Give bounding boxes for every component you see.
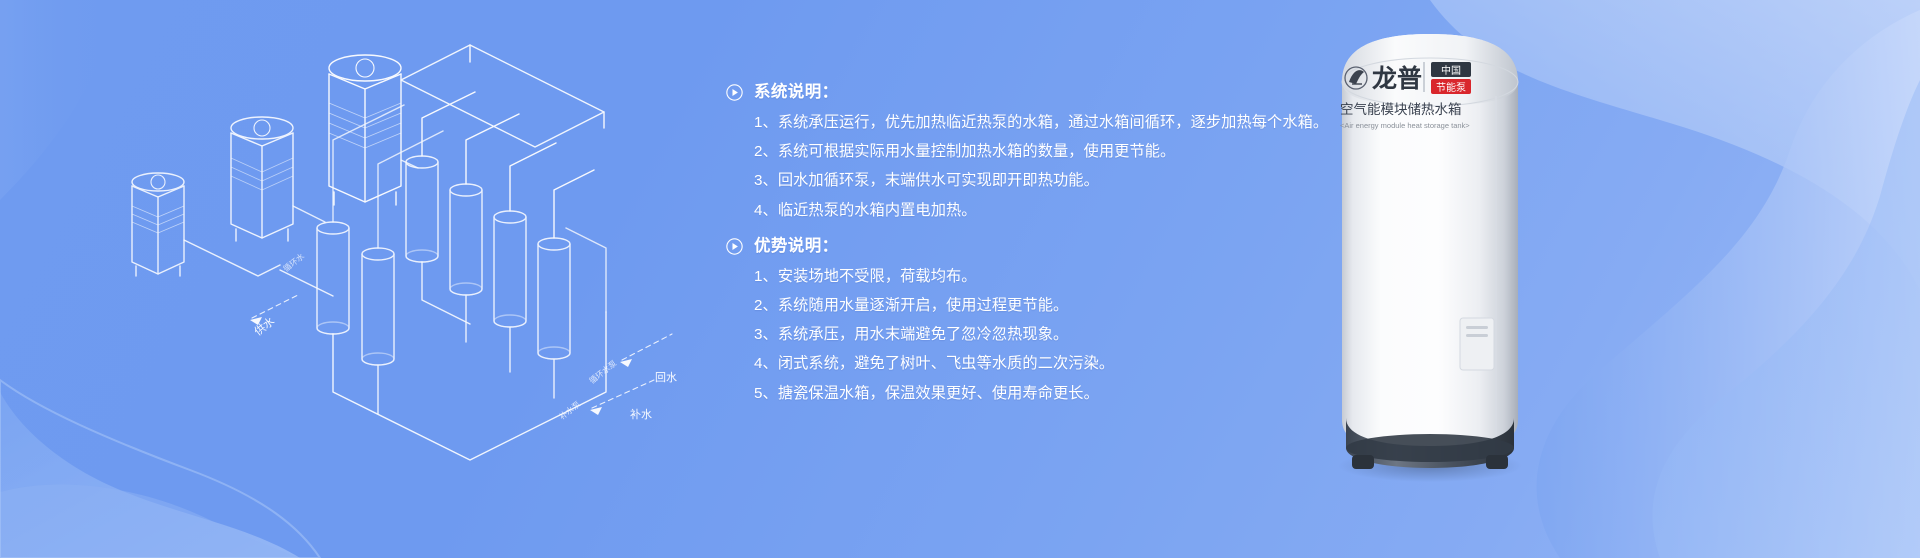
tank-top-cap [1342,34,1518,106]
list-item: 4、临近热泵的水箱内置电加热。 [726,203,1346,218]
tank-panel-vent [1466,326,1488,329]
system-schematic-diagram: 供水 回水 补水 循环水泵 补水泵 循环水 [0,0,740,558]
diagram-linework [132,45,672,460]
storage-tank [362,248,394,365]
heat-pump-unit-3 [329,55,401,205]
section-advantage-description: 优势说明： 1、安装场地不受限，荷载均布。 2、系统随用水量逐渐开启，使用过程更… [726,238,1346,401]
list-item: 3、回水加循环泵，末端供水可实现即开即热功能。 [726,173,1346,188]
tank-foot [1486,455,1508,469]
product-model-name: 空气能模块储热水箱 [1340,102,1462,117]
advantage-description-list: 1、安装场地不受限，荷载均布。 2、系统随用水量逐渐开启，使用过程更节能。 3、… [726,269,1346,401]
product-photo-water-tank: 龙普 中国 节能泵 空气能模块储热水箱 <Air energy module h… [1300,0,1920,558]
brand-name-cn: 龙普 [1372,64,1422,93]
storage-tank [538,238,570,359]
supply-manifold-piping [333,45,604,248]
tank-access-panel [1460,318,1494,370]
list-item: 1、安装场地不受限，荷载均布。 [726,269,1346,284]
storage-tank [494,211,526,327]
brand-mark-top-label: 中国 [1441,64,1461,77]
diagram-label: 循环水泵 [587,358,618,386]
section-system-description: 系统说明： 1、系统承压运行，优先加热临近热泵的水箱，通过水箱间循环，逐步加热每… [726,84,1346,218]
list-item: 5、搪瓷保温水箱，保温效果更好、使用寿命更长。 [726,386,1346,401]
section-title: 系统说明： [754,84,839,101]
callout-leader-lines [252,294,672,408]
storage-tank-group [317,156,570,365]
storage-tank [450,184,482,295]
heat-pump-unit-2 [231,117,293,241]
description-panel: 系统说明： 1、系统承压运行，优先加热临近热泵的水箱，通过水箱间循环，逐步加热每… [726,84,1346,401]
brand-mark-bottom-label: 节能泵 [1436,81,1466,94]
play-circle-icon [726,238,743,255]
tank-foot [1352,455,1374,469]
storage-tank [406,156,438,262]
list-item: 2、系统随用水量逐渐开启，使用过程更节能。 [726,298,1346,313]
storage-tank [317,222,349,334]
tank-panel-vent [1466,334,1488,337]
diagram-label: 回水 [655,371,677,384]
section-title: 优势说明： [754,238,839,255]
section-header: 系统说明： [726,84,1346,101]
diagram-label: 补水 [630,408,652,421]
diagram-label: 供水 [251,314,277,339]
list-item: 1、系统承压运行，优先加热临近热泵的水箱，通过水箱间循环，逐步加热每个水箱。 [726,115,1346,130]
system-description-list: 1、系统承压运行，优先加热临近热泵的水箱，通过水箱间循环，逐步加热每个水箱。 2… [726,115,1346,218]
heat-pump-unit-1 [132,173,184,276]
section-header: 优势说明： [726,238,1346,255]
diagram-label: 循环水 [281,251,306,274]
list-item: 2、系统可根据实际用水量控制加热水箱的数量，使用更节能。 [726,144,1346,159]
diagram-labels: 供水 回水 补水 循环水泵 补水泵 循环水 [251,251,677,422]
diagram-label: 补水泵 [557,399,582,422]
return-manifold-piping [184,160,606,460]
list-item: 4、闭式系统，避免了树叶、飞虫等水质的二次污染。 [726,356,1346,371]
list-item: 3、系统承压，用水末端避免了忽冷忽热现象。 [726,327,1346,342]
product-model-name-en: <Air energy module heat storage tank> [1340,121,1470,130]
play-circle-icon [726,84,743,101]
